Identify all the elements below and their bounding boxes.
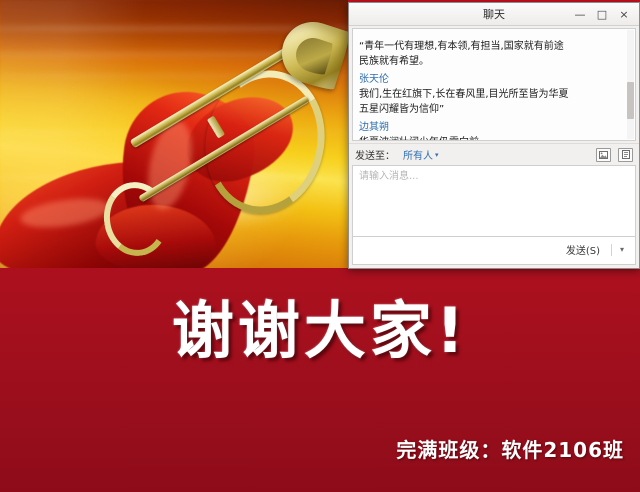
send-divider: [611, 244, 612, 256]
send-target-dropdown[interactable]: 所有人: [403, 147, 433, 162]
screenshot-icon[interactable]: [596, 148, 611, 162]
chat-window: 聊天 — □ × “青年一代有理想,有本领,有担当,国家就有前途 民族就有希望。…: [348, 2, 640, 269]
minimize-icon[interactable]: —: [569, 4, 591, 24]
message-list-scrollbar[interactable]: [627, 30, 634, 139]
message-text: 我们,生在红旗下,长在春风里,目光所至皆为华夏 五星闪耀皆为信仰”: [359, 87, 629, 117]
send-options-chevron-icon[interactable]: ▾: [617, 245, 627, 254]
page-title: 谢谢大家!: [0, 300, 640, 362]
file-icon[interactable]: [618, 148, 633, 162]
close-icon[interactable]: ×: [613, 4, 635, 24]
message-item: 张天伦 我们,生在红旗下,长在春风里,目光所至皆为华夏 五星闪耀皆为信仰”: [359, 73, 629, 117]
message-item: “青年一代有理想,有本领,有担当,国家就有前途 民族就有希望。: [359, 39, 629, 69]
message-sender: 边其朔: [359, 121, 629, 134]
banner-image: [0, 0, 348, 268]
maximize-icon[interactable]: □: [591, 4, 613, 24]
send-target-bar: 发送至： 所有人 ▾: [349, 143, 639, 165]
class-credit: 完满班级：软件2106班: [396, 434, 624, 463]
presentation-slide: 谢谢大家! 完满班级：软件2106班 聊天 — □ × “青年一代有理想,有本领…: [0, 0, 640, 492]
message-item: 边其朔 华夏波澜壮阔少年仍需向前: [359, 121, 629, 141]
composer-tools: [596, 148, 633, 162]
message-input-placeholder: 请输入消息...: [359, 170, 629, 184]
message-input[interactable]: 请输入消息...: [352, 165, 636, 237]
send-to-label: 发送至：: [355, 147, 395, 162]
chat-titlebar[interactable]: 聊天 — □ ×: [349, 3, 639, 26]
chevron-down-icon[interactable]: ▾: [435, 151, 439, 159]
message-clipped-sender: [359, 31, 629, 39]
message-sender: 张天伦: [359, 73, 629, 86]
send-button[interactable]: 发送(S): [560, 240, 606, 259]
message-text: 华夏波澜壮阔少年仍需向前: [359, 135, 629, 141]
message-list[interactable]: “青年一代有理想,有本领,有担当,国家就有前途 民族就有希望。 张天伦 我们,生…: [352, 28, 636, 141]
message-text: “青年一代有理想,有本领,有担当,国家就有前途 民族就有希望。: [359, 39, 629, 69]
scrollbar-thumb[interactable]: [627, 82, 634, 119]
window-controls: — □ ×: [569, 4, 639, 24]
send-row: 发送(S) ▾: [352, 237, 636, 265]
